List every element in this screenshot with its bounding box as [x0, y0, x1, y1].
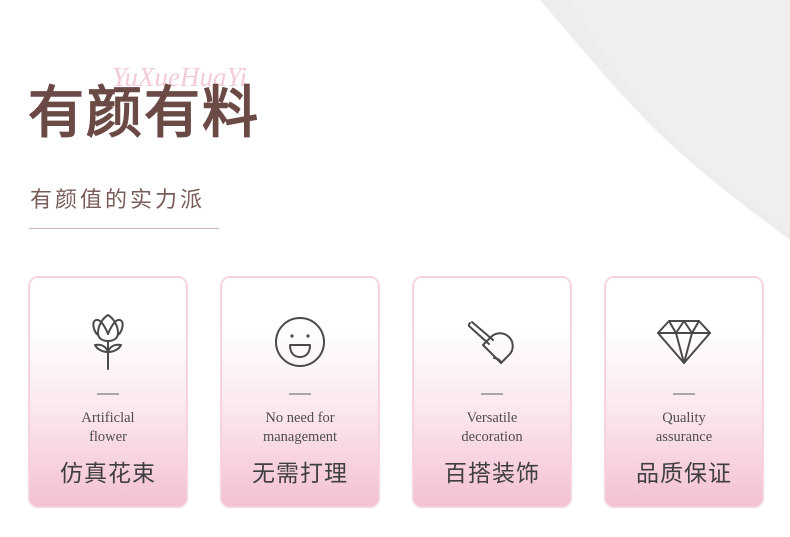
feature-card-quality-assurance: Quality assurance 品质保证	[604, 276, 764, 508]
feature-card-en-line1: Versatile	[422, 409, 562, 428]
card-divider	[673, 393, 695, 395]
paint-brush-icon	[463, 311, 521, 373]
feature-card-en-label: Quality assurance	[614, 409, 754, 447]
feature-card-no-management: No need for management 无需打理	[220, 276, 380, 508]
feature-card-en-line1: No need for	[230, 409, 370, 428]
feature-card-cn-label: 百搭装饰	[444, 459, 540, 489]
feature-card-en-line2: flower	[38, 428, 178, 447]
feature-card-en-line2: assurance	[614, 428, 754, 447]
feature-card-versatile-decoration: Versatile decoration 百搭装饰	[412, 276, 572, 508]
feature-card-cn-label: 无需打理	[252, 459, 348, 489]
tulip-flower-icon	[82, 311, 134, 373]
feature-card-en-line2: management	[230, 428, 370, 447]
feature-card-en-label: No need for management	[230, 409, 370, 447]
feature-card-en-line1: Quality	[614, 409, 754, 428]
feature-card-en-label: Versatile decoration	[422, 409, 562, 447]
card-divider	[97, 393, 119, 395]
smiley-face-icon	[273, 311, 327, 373]
feature-card-list: Artificlal flower 仿真花束 No need for manag…	[28, 276, 764, 508]
feature-card-en-line2: decoration	[422, 428, 562, 447]
page-subtitle: 有颜值的实力派	[30, 186, 205, 216]
diamond-icon	[655, 311, 713, 373]
feature-card-en-label: Artificlal flower	[38, 409, 178, 447]
feature-card-cn-label: 品质保证	[636, 459, 732, 489]
card-divider	[481, 393, 503, 395]
background-curve-decoration	[0, 0, 790, 300]
feature-card-artificial-flower: Artificlal flower 仿真花束	[28, 276, 188, 508]
subtitle-divider	[29, 228, 219, 229]
card-divider	[289, 393, 311, 395]
promo-banner: YuXueHuaYi 有颜有料 有颜值的实力派 Artificlal flowe…	[0, 0, 790, 537]
feature-card-en-line1: Artificlal	[38, 409, 178, 428]
page-title: 有颜有料	[28, 82, 260, 146]
feature-card-cn-label: 仿真花束	[60, 459, 156, 489]
